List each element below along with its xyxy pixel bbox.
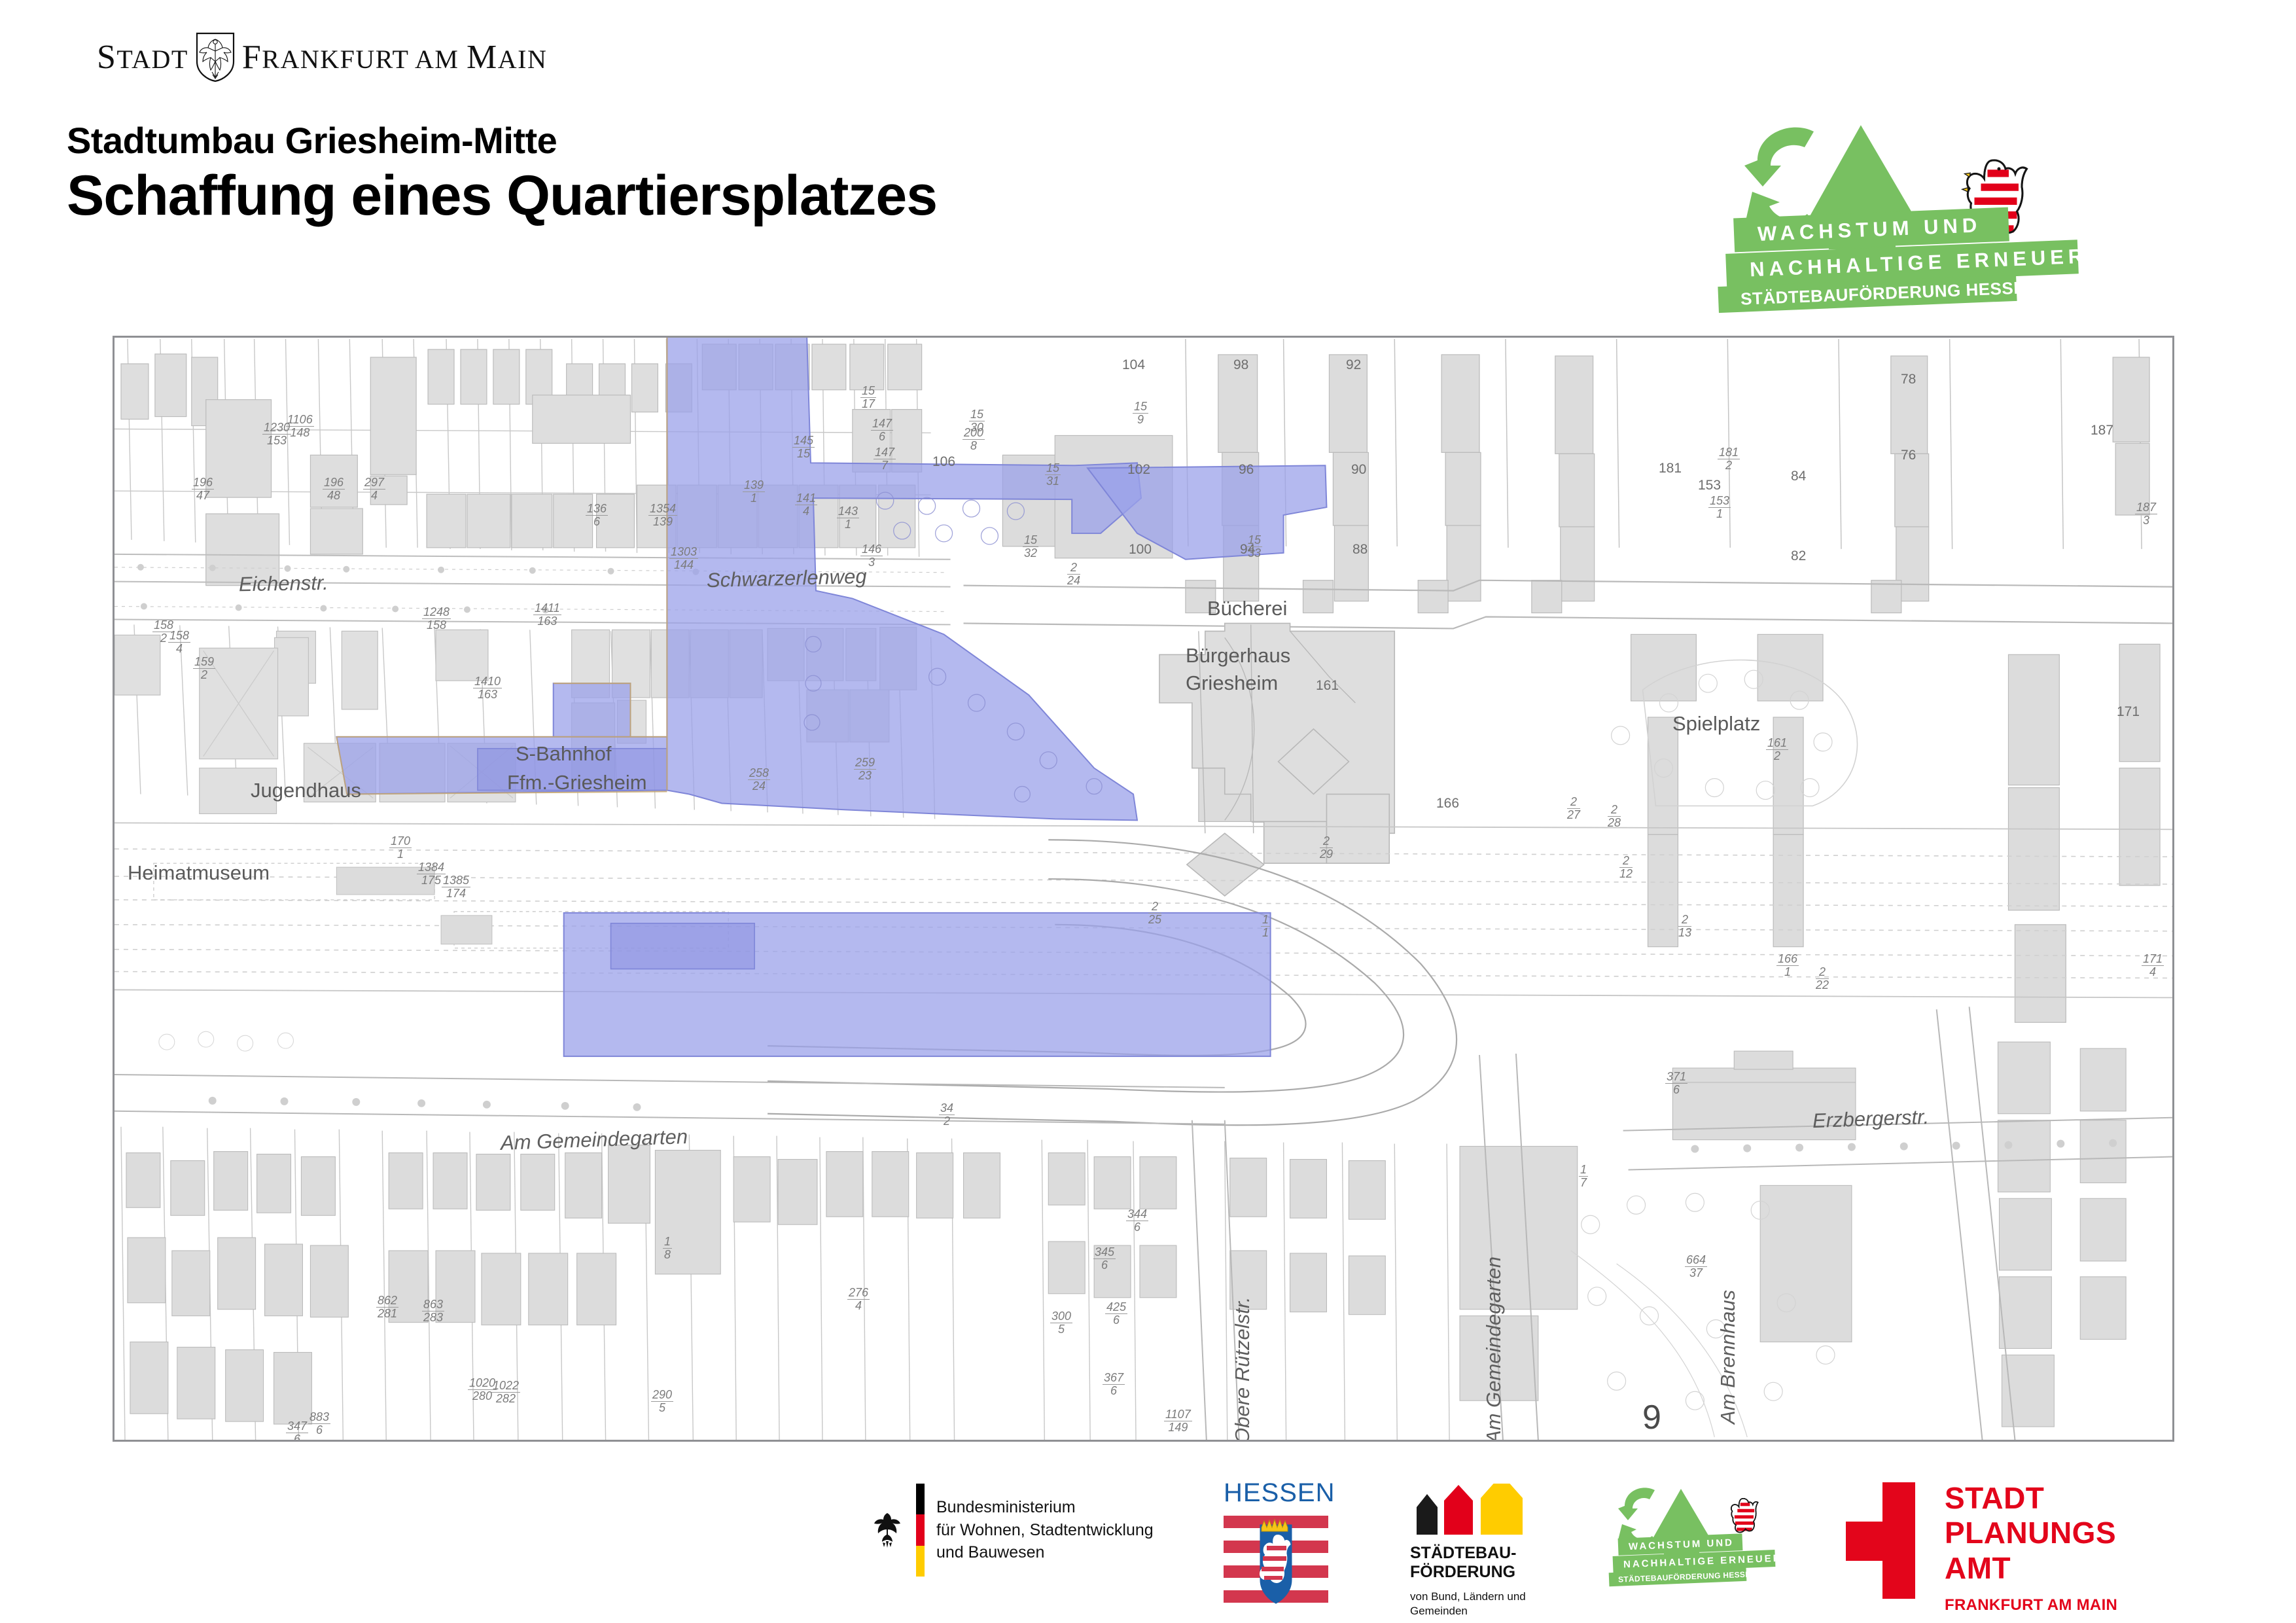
staedtebau-line1: STÄDTEBAU- [1410, 1544, 1561, 1563]
hessen-wordmark: HESSEN [1224, 1478, 1328, 1508]
city-of-frankfurt-logo: STADT FRANKFURT AM MAIN [97, 31, 547, 82]
poster-page: STADT FRANKFURT AM MAIN Stadtumbau Gries… [0, 0, 2296, 1623]
staedtebau-line3: von Bund, Ländern und [1410, 1590, 1561, 1604]
hessen-logo: HESSEN [1224, 1478, 1328, 1613]
city-wordmark-right: FRANKFURT AM MAIN [242, 38, 547, 77]
spa-line2: PLANUNGS [1945, 1516, 2117, 1550]
city-wordmark-left: STADT [97, 38, 188, 77]
footer-logo-bar: Bundesministerium für Wohnen, Stadtentwi… [0, 1469, 2296, 1623]
german-flag-bar [916, 1484, 925, 1577]
hessen-coat-of-arms-icon [1224, 1512, 1328, 1610]
bmwsb-line2: für Wohnen, Stadtentwicklung [936, 1519, 1154, 1542]
wachstum-logo-small: WACHSTUM UND NACHHALTIGE ERNEUERUNG STÄD… [1613, 1484, 1803, 1582]
bmwsb-line1: Bundesministerium [936, 1496, 1154, 1519]
spa-line3: AMT [1945, 1551, 2117, 1586]
spa-line1: STADT [1945, 1481, 2117, 1516]
page-title: Schaffung eines Quartiersplatzes [67, 164, 937, 228]
project-subtitle: Stadtumbau Griesheim-Mitte [67, 119, 557, 162]
bmwsb-line3: und Bauwesen [936, 1541, 1154, 1564]
staedtebaufoerderung-logo: STÄDTEBAU- FÖRDERUNG von Bund, Ländern u… [1410, 1484, 1561, 1618]
map-graphics [115, 338, 2172, 1440]
staedtebau-line4: Gemeinden [1410, 1604, 1561, 1618]
cadastral-map[interactable]: Eichenstr. Schwarzerlenweg Erzbergerstr.… [113, 336, 2174, 1442]
three-houses-icon [1410, 1484, 1541, 1535]
stadtplanungsamt-logo: STADT PLANUNGS AMT FRANKFURT AM MAIN [1842, 1481, 2117, 1614]
bmwsb-logo: Bundesministerium für Wohnen, Stadtentwi… [870, 1484, 1154, 1577]
stadtplanungsamt-mark-icon [1842, 1481, 1917, 1600]
staedtebau-line2: FÖRDERUNG [1410, 1563, 1561, 1582]
frankfurt-eagle-crest-icon [195, 31, 236, 82]
wachstum-und-nachhaltige-erneuerung-logo: WACHSTUM UND NACHHALTIGE ERNEUERUNG STÄD… [1734, 121, 2153, 298]
bundesadler-icon [870, 1511, 904, 1549]
spa-subtitle: FRANKFURT AM MAIN [1945, 1596, 2117, 1614]
